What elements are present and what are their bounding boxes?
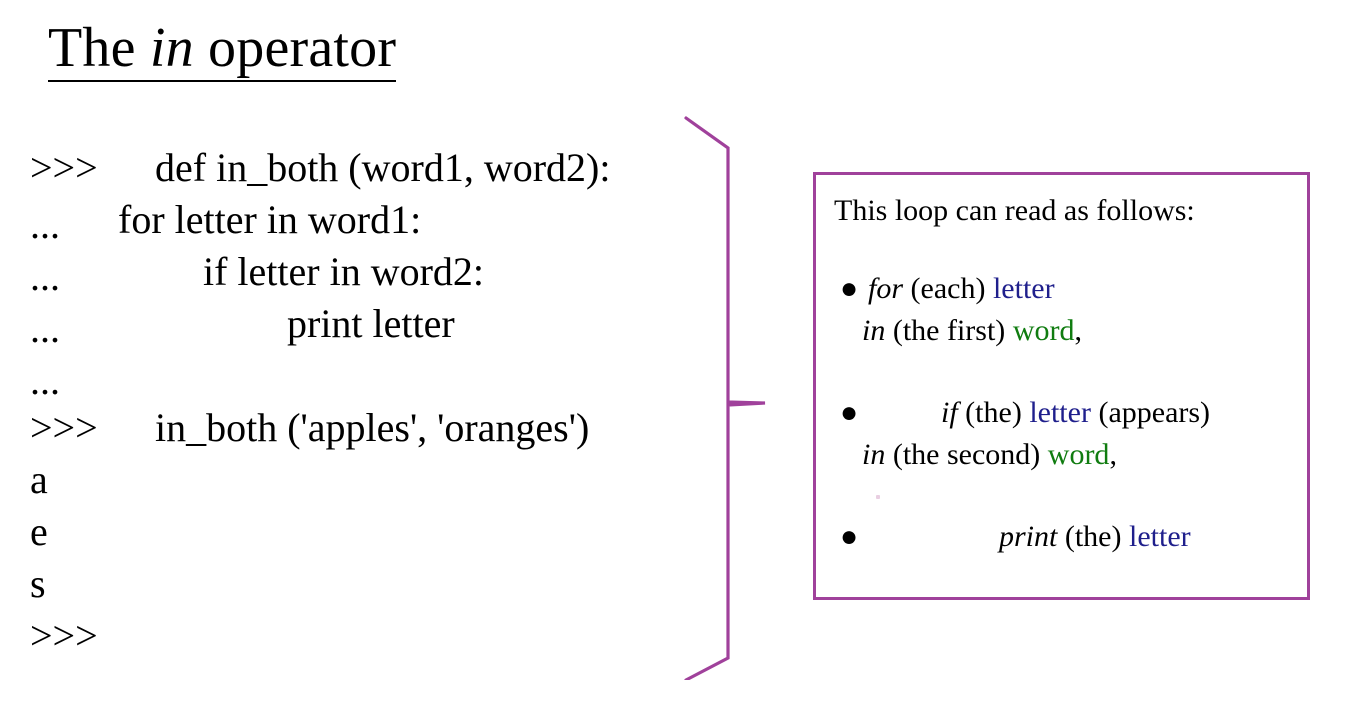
bullet-line: in (the second) word, bbox=[834, 434, 1304, 476]
bullet-marker-icon: ● bbox=[840, 392, 858, 434]
code-line-text: a bbox=[30, 454, 48, 506]
list-item: ●print (the) letter bbox=[834, 516, 1304, 558]
code-line: e bbox=[30, 506, 730, 558]
curly-brace-connector bbox=[672, 105, 782, 680]
code-line-text: def in_both (word1, word2): bbox=[127, 142, 610, 194]
code-keyword-italic: print bbox=[999, 520, 1065, 553]
callout-heading: This loop can read as follows: bbox=[834, 192, 1195, 230]
keyword-word: word bbox=[1048, 438, 1110, 471]
code-prompt: >>> bbox=[30, 402, 127, 454]
bullet-line: if (the) letter (appears) bbox=[834, 392, 1304, 434]
bullet-line: for (each) letter bbox=[834, 268, 1304, 310]
list-item: ●if (the) letter (appears)in (the second… bbox=[834, 392, 1304, 476]
code-line: ... bbox=[30, 350, 730, 402]
bullet-marker-icon: ● bbox=[840, 268, 858, 310]
keyword-letter: letter bbox=[1129, 520, 1191, 553]
code-line: >>>in_both ('apples', 'oranges') bbox=[30, 402, 730, 454]
brace-path bbox=[686, 118, 765, 680]
keyword-letter: letter bbox=[1029, 396, 1091, 429]
bullet-text: (the first) bbox=[893, 314, 1013, 347]
code-continuation-prompt: ... bbox=[30, 355, 90, 407]
code-line: s bbox=[30, 558, 730, 610]
keyword-word: word bbox=[1013, 314, 1075, 347]
code-keyword-italic: if bbox=[941, 396, 965, 429]
bullet-text: (the) bbox=[1065, 520, 1129, 553]
page-title: The in operator bbox=[48, 18, 396, 82]
code-line-text: in_both ('apples', 'oranges') bbox=[127, 402, 589, 454]
code-keyword-italic: in bbox=[862, 314, 893, 347]
title-text-after: operator bbox=[194, 17, 396, 79]
code-line: ...for letter in word1: bbox=[30, 194, 730, 246]
code-line-text: s bbox=[30, 558, 46, 610]
code-line: a bbox=[30, 454, 730, 506]
code-keyword-italic: in bbox=[862, 438, 893, 471]
callout-content: This loop can read as follows: ●for (eac… bbox=[816, 175, 1307, 597]
code-line: ...print letter bbox=[30, 298, 730, 350]
code-line-text: e bbox=[30, 506, 48, 558]
code-continuation-prompt: ... bbox=[30, 199, 90, 251]
bullet-line: in (the first) word, bbox=[834, 310, 1304, 352]
code-line: >>> bbox=[30, 610, 730, 662]
code-block: >>>def in_both (word1, word2):...for let… bbox=[30, 142, 730, 662]
code-line-text: for letter in word1: bbox=[90, 194, 421, 246]
title-text-before: The bbox=[48, 17, 150, 79]
bullet-marker-icon: ● bbox=[840, 516, 858, 558]
code-continuation-prompt: ... bbox=[30, 303, 90, 355]
bullet-text: (the) bbox=[965, 396, 1029, 429]
bullet-text: (each) bbox=[911, 272, 993, 305]
keyword-letter: letter bbox=[993, 272, 1055, 305]
code-prompt: >>> bbox=[30, 610, 127, 662]
bullet-text: , bbox=[1109, 438, 1117, 471]
code-keyword-italic: for bbox=[868, 272, 911, 305]
bullet-line: print (the) letter bbox=[834, 516, 1304, 558]
code-line-text: print letter bbox=[90, 298, 455, 350]
code-continuation-prompt: ... bbox=[30, 251, 90, 303]
bullet-text: , bbox=[1074, 314, 1082, 347]
bullet-text: (appears) bbox=[1091, 396, 1210, 429]
code-line: >>>def in_both (word1, word2): bbox=[30, 142, 730, 194]
callout-box: This loop can read as follows: ●for (eac… bbox=[813, 172, 1310, 600]
list-item: ●for (each) letterin (the first) word, bbox=[834, 268, 1304, 352]
code-line-text: if letter in word2: bbox=[90, 246, 484, 298]
stray-speck-artifact bbox=[876, 495, 880, 499]
code-line: ...if letter in word2: bbox=[30, 246, 730, 298]
code-prompt: >>> bbox=[30, 142, 127, 194]
title-text-italic: in bbox=[150, 17, 194, 79]
bullet-text: (the second) bbox=[893, 438, 1048, 471]
slide-canvas: The in operator >>>def in_both (word1, w… bbox=[0, 0, 1366, 720]
